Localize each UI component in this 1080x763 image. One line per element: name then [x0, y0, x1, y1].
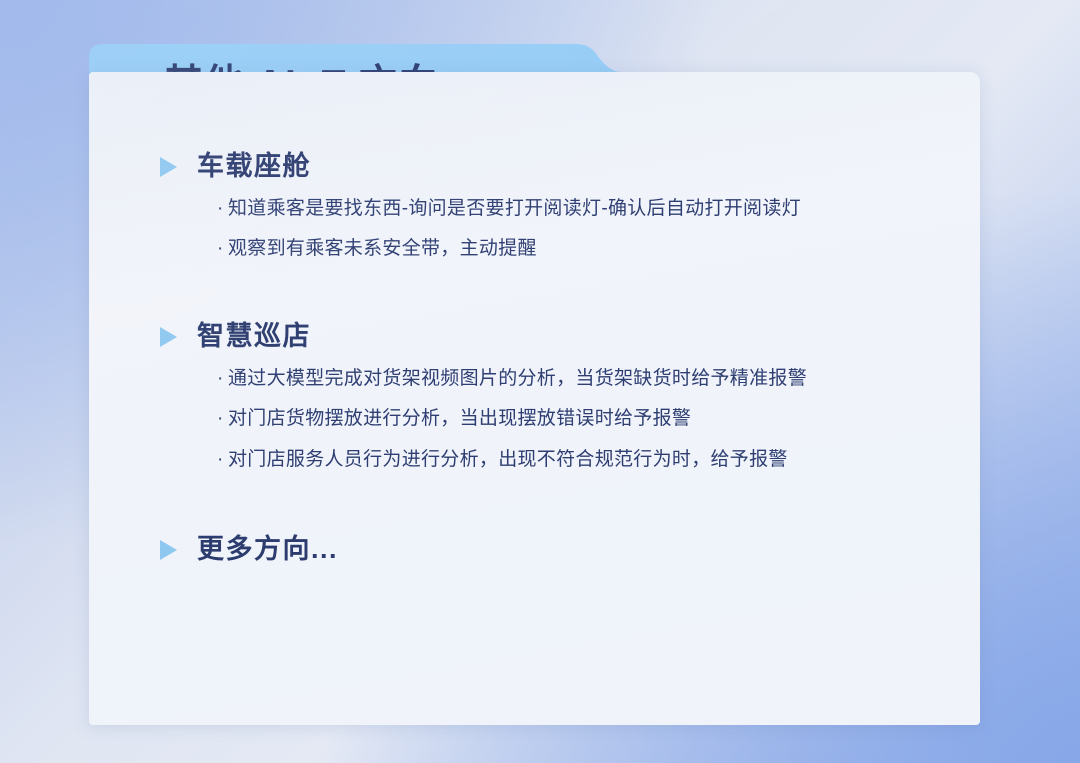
bullet-marker-icon: · — [217, 406, 228, 432]
triangle-right-icon — [160, 157, 177, 177]
section-heading: 智慧巡店 — [160, 322, 980, 352]
card-content: 车载座舱 · 知道乘客是要找东西-询问是否要打开阅读灯-确认后自动打开阅读灯 ·… — [89, 72, 980, 725]
list-item-text: 知道乘客是要找东西-询问是否要打开阅读灯-确认后自动打开阅读灯 — [228, 196, 801, 222]
slide-canvas: 其他 AIoT 方向 车载座舱 · 知道乘客是要找东西-询问是否要打开阅读灯-确… — [0, 0, 1080, 763]
list-item: · 通过大模型完成对货架视频图片的分析，当货架缺货时给予精准报警 — [217, 366, 980, 392]
list-item: · 对门店服务人员行为进行分析，出现不符合规范行为时，给予报警 — [217, 447, 980, 473]
section-heading: 更多方向... — [160, 535, 980, 565]
section-heading: 车载座舱 — [160, 152, 980, 182]
section-more-directions: 更多方向... — [89, 535, 980, 565]
section-heading-text: 智慧巡店 — [197, 322, 311, 352]
bullet-marker-icon: · — [217, 447, 228, 473]
list-item-text: 观察到有乘客未系安全带，主动提醒 — [228, 236, 537, 262]
triangle-right-icon — [160, 540, 177, 560]
list-item-text: 对门店服务人员行为进行分析，出现不符合规范行为时，给予报警 — [228, 447, 788, 473]
bullet-marker-icon: · — [217, 236, 228, 262]
section-heading-text: 车载座舱 — [197, 152, 311, 182]
list-item: · 知道乘客是要找东西-询问是否要打开阅读灯-确认后自动打开阅读灯 — [217, 196, 980, 222]
bullet-list: · 通过大模型完成对货架视频图片的分析，当货架缺货时给予精准报警 · 对门店货物… — [89, 366, 980, 473]
list-item: · 对门店货物摆放进行分析，当出现摆放错误时给予报警 — [217, 406, 980, 432]
section-smart-store-inspection: 智慧巡店 · 通过大模型完成对货架视频图片的分析，当货架缺货时给予精准报警 · … — [89, 322, 980, 473]
list-item-text: 对门店货物摆放进行分析，当出现摆放错误时给予报警 — [228, 406, 691, 432]
bullet-marker-icon: · — [217, 366, 228, 392]
list-item-text: 通过大模型完成对货架视频图片的分析，当货架缺货时给予精准报警 — [228, 366, 807, 392]
content-card: 其他 AIoT 方向 车载座舱 · 知道乘客是要找东西-询问是否要打开阅读灯-确… — [89, 44, 980, 725]
section-heading-text: 更多方向... — [197, 535, 338, 565]
bullet-list: · 知道乘客是要找东西-询问是否要打开阅读灯-确认后自动打开阅读灯 · 观察到有… — [89, 196, 980, 262]
list-item: · 观察到有乘客未系安全带，主动提醒 — [217, 236, 980, 262]
triangle-right-icon — [160, 327, 177, 347]
section-vehicle-cockpit: 车载座舱 · 知道乘客是要找东西-询问是否要打开阅读灯-确认后自动打开阅读灯 ·… — [89, 152, 980, 262]
bullet-marker-icon: · — [217, 196, 228, 222]
